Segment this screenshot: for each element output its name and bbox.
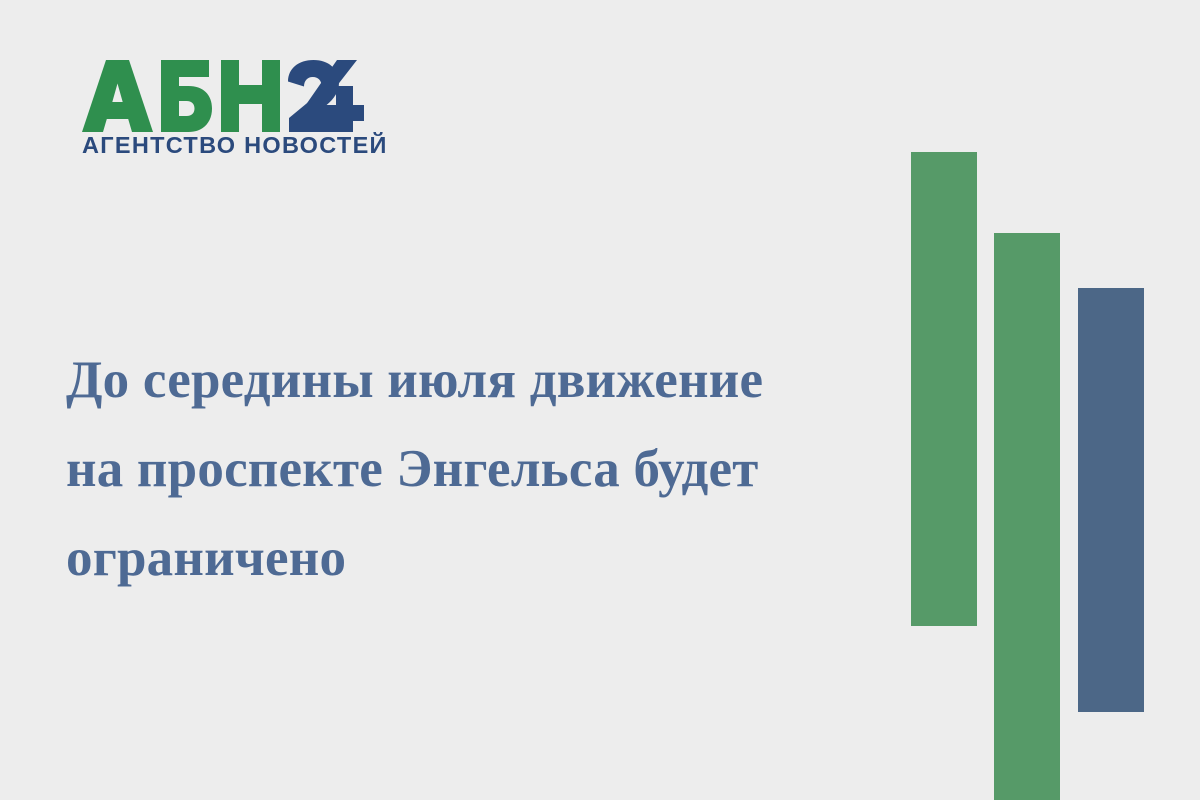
logo-wordmark-icon xyxy=(82,60,364,132)
bar-middle-green xyxy=(994,233,1060,800)
headline-line-2: на проспекте Энгельса будет xyxy=(66,425,896,514)
bar-tall-green xyxy=(911,152,977,626)
headline: До середины июля движение на проспекте Э… xyxy=(66,336,896,603)
news-card: АГЕНТСТВО НОВОСТЕЙ До середины июля движ… xyxy=(0,0,1200,800)
bar-short-blue xyxy=(1078,288,1144,712)
headline-line-1: До середины июля движение xyxy=(66,336,896,425)
headline-line-3: ограничено xyxy=(66,514,896,603)
logo-tagline: АГЕНТСТВО НОВОСТЕЙ xyxy=(82,134,372,158)
logo: АГЕНТСТВО НОВОСТЕЙ xyxy=(82,60,372,160)
